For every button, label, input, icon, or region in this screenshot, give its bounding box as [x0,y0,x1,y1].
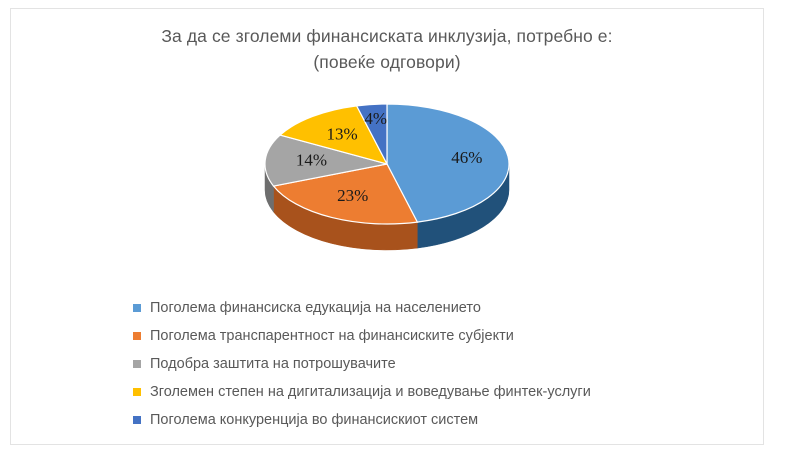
pie-slice-value-label: 46% [451,148,482,167]
chart-frame: За да се зголеми финансиската инклузија,… [10,8,764,445]
chart-title-line-2: (повеќе одговори) [11,49,763,75]
legend-item-label: Подобра заштита на потрошувачите [150,355,396,373]
legend-item[interactable]: Подобра заштита на потрошувачите [133,350,743,378]
legend-item[interactable]: Поголема конкуренција во финансискиот си… [133,406,743,434]
pie-chart-area: 46%23%14%13%4% [11,87,763,267]
legend-item-label: Зголемен степен на дигитализација и вове… [150,383,591,401]
legend-item[interactable]: Поголема финансиска едукација на населен… [133,294,743,322]
legend-swatch-icon [133,332,141,340]
legend-item[interactable]: Поголема транспарентност на финансиските… [133,322,743,350]
legend-swatch-icon [133,360,141,368]
chart-legend: Поголема финансиска едукација на населен… [133,294,743,434]
chart-title-line-1: За да се зголеми финансиската инклузија,… [161,26,612,46]
legend-item-label: Поголема конкуренција во финансискиот си… [150,411,478,429]
legend-item-label: Поголема транспарентност на финансиските… [150,327,514,345]
pie-slice-value-label: 4% [364,109,387,128]
pie-chart-svg: 46%23%14%13%4% [257,87,517,257]
legend-swatch-icon [133,416,141,424]
legend-swatch-icon [133,388,141,396]
chart-title: За да се зголеми финансиската инклузија,… [11,23,763,75]
pie-slice-value-label: 13% [327,124,358,143]
pie-slice-value-label: 23% [337,186,368,205]
legend-item[interactable]: Зголемен степен на дигитализација и вове… [133,378,743,406]
pie-slice-value-label: 14% [296,151,327,170]
legend-swatch-icon [133,304,141,312]
legend-item-label: Поголема финансиска едукација на населен… [150,299,481,317]
